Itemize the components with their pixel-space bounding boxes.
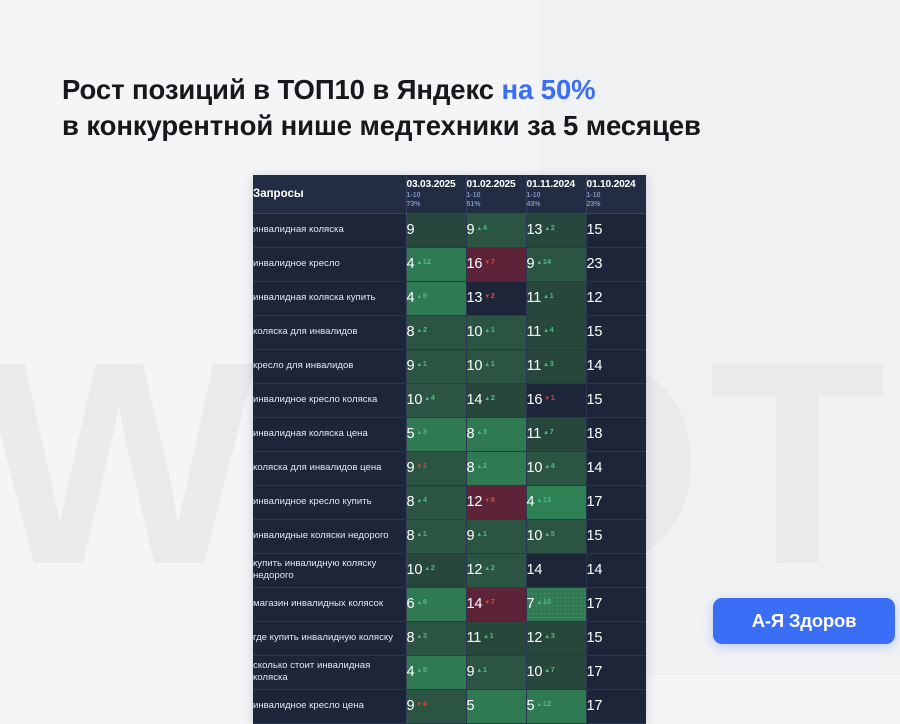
rank-value: 12 — [587, 290, 603, 306]
percent-label: 23% — [587, 201, 647, 209]
triangle-up-icon: ▲ — [544, 634, 550, 640]
delta-value: 1 — [423, 461, 427, 470]
triangle-up-icon: ▲ — [416, 294, 422, 300]
delta-value: 5 — [551, 529, 555, 538]
triangle-up-icon: ▲ — [416, 362, 422, 368]
rank-value: 9 — [527, 256, 535, 272]
rank-value: 23 — [587, 256, 603, 272]
delta-value: 3 — [423, 631, 427, 640]
rank-value: 5 — [527, 698, 535, 714]
rank-value: 17 — [587, 494, 603, 510]
rank-cell: 11▲3 — [526, 349, 586, 383]
delta-down-icon: ▼2 — [484, 291, 495, 300]
delta-value: 4 — [423, 699, 427, 708]
title-line2: в конкурентной нише медтехники за 5 меся… — [62, 110, 701, 141]
delta-value: 10 — [543, 597, 551, 606]
rank-value: 12 — [467, 562, 483, 578]
query-cell: инвалидное кресло — [253, 247, 406, 281]
rank-cell: 11▲1 — [526, 281, 586, 315]
triangle-up-icon: ▲ — [544, 668, 550, 674]
rank-cell: 23 — [586, 247, 646, 281]
delta-up-icon: ▲4 — [416, 495, 427, 504]
triangle-up-icon: ▲ — [416, 260, 422, 266]
rank-value: 10 — [407, 562, 423, 578]
delta-value: 2 — [491, 563, 495, 572]
triangle-up-icon: ▲ — [536, 498, 542, 504]
rank-value: 15 — [587, 630, 603, 646]
rank-cell: 15 — [586, 213, 646, 247]
delta-value: 7 — [491, 257, 495, 266]
triangle-down-icon: ▼ — [416, 702, 422, 708]
rank-value: 14 — [467, 392, 483, 408]
rank-value: 4 — [407, 256, 415, 272]
rank-value: 10 — [527, 528, 543, 544]
rankings-table-card: Запросы 03.03.2025 1-10 73% 01.02.2025 1… — [253, 175, 646, 724]
delta-up-icon: ▲3 — [476, 427, 487, 436]
delta-up-icon: ▲9 — [416, 291, 427, 300]
triangle-up-icon: ▲ — [543, 362, 549, 368]
rank-cell: 17 — [586, 655, 646, 689]
rank-cell: 8▲3 — [406, 621, 466, 655]
triangle-up-icon: ▲ — [476, 430, 482, 436]
query-cell: инвалидное кресло цена — [253, 689, 406, 723]
delta-value: 1 — [423, 359, 427, 368]
triangle-up-icon: ▲ — [424, 396, 430, 402]
delta-up-icon: ▲4 — [543, 325, 554, 334]
rank-value: 10 — [407, 392, 423, 408]
rank-value: 9 — [467, 528, 475, 544]
triangle-down-icon: ▼ — [484, 600, 490, 606]
table-row: инвалидное кресло цена9▼455▲1217 — [253, 689, 646, 723]
query-cell: магазин инвалидных колясок — [253, 587, 406, 621]
table-row: где купить инвалидную коляску8▲311▲112▲3… — [253, 621, 646, 655]
range-label: 1-10 — [407, 192, 466, 200]
rank-cell: 15 — [586, 383, 646, 417]
rank-cell: 13▼2 — [466, 281, 526, 315]
rank-cell: 15 — [586, 519, 646, 553]
delta-value: 2 — [491, 291, 495, 300]
rank-cell: 9 — [406, 213, 466, 247]
delta-value: 1 — [483, 529, 487, 538]
rank-cell: 14▼7 — [466, 587, 526, 621]
delta-down-icon: ▼4 — [416, 699, 427, 708]
rank-value: 11 — [527, 324, 542, 340]
delta-up-icon: ▲3 — [543, 359, 554, 368]
rank-value: 11 — [527, 290, 542, 306]
rank-value: 9 — [407, 698, 415, 714]
triangle-up-icon: ▲ — [416, 600, 422, 606]
delta-value: 2 — [551, 223, 555, 232]
rank-cell: 17 — [586, 587, 646, 621]
triangle-down-icon: ▼ — [484, 260, 490, 266]
query-cell: инвалидная коляска цена — [253, 417, 406, 451]
triangle-up-icon: ▲ — [416, 668, 422, 674]
delta-up-icon: ▲1 — [484, 359, 495, 368]
column-header-queries: Запросы — [253, 175, 406, 213]
triangle-up-icon: ▲ — [536, 702, 542, 708]
date-label: 03.03.2025 — [407, 179, 466, 192]
delta-up-icon: ▲1 — [484, 325, 495, 334]
delta-value: 4 — [551, 461, 555, 470]
query-cell: коляска для инвалидов — [253, 315, 406, 349]
delta-up-icon: ▲3 — [416, 427, 427, 436]
rank-cell: 15 — [586, 315, 646, 349]
delta-up-icon: ▲1 — [543, 291, 554, 300]
rank-value: 11 — [527, 358, 542, 374]
query-cell: где купить инвалидную коляску — [253, 621, 406, 655]
rank-cell: 5▲3 — [406, 417, 466, 451]
triangle-up-icon: ▲ — [536, 260, 542, 266]
query-cell: инвалидная коляска купить — [253, 281, 406, 315]
triangle-up-icon: ▲ — [476, 668, 482, 674]
date-label: 01.10.2024 — [587, 179, 647, 192]
delta-down-icon: ▼1 — [544, 393, 555, 402]
rank-value: 15 — [587, 324, 603, 340]
triangle-up-icon: ▲ — [484, 396, 490, 402]
rank-cell: 12▲3 — [526, 621, 586, 655]
rank-value: 12 — [467, 494, 483, 510]
rank-cell: 7▲10 — [526, 587, 586, 621]
delta-up-icon: ▲14 — [536, 257, 551, 266]
column-header-date-0: 03.03.2025 1-10 73% — [406, 175, 466, 213]
delta-value: 2 — [423, 325, 427, 334]
rank-value: 9 — [407, 358, 415, 374]
rank-cell: 11▲7 — [526, 417, 586, 451]
rank-value: 16 — [467, 256, 483, 272]
delta-up-icon: ▲1 — [476, 665, 487, 674]
rank-value: 9 — [407, 222, 415, 238]
rank-value: 9 — [407, 460, 415, 476]
rank-value: 17 — [587, 698, 603, 714]
delta-value: 2 — [491, 393, 495, 402]
rank-value: 8 — [407, 528, 415, 544]
rank-cell: 16▼1 — [526, 383, 586, 417]
table-row: инвалидная коляска цена5▲38▲311▲718 — [253, 417, 646, 451]
rank-cell: 5 — [466, 689, 526, 723]
rank-value: 10 — [527, 460, 543, 476]
delta-value: 14 — [543, 257, 551, 266]
rank-cell: 8▲3 — [466, 417, 526, 451]
triangle-up-icon: ▲ — [544, 226, 550, 232]
query-cell: инвалидное кресло коляска — [253, 383, 406, 417]
delta-up-icon: ▲8 — [416, 597, 427, 606]
rank-value: 10 — [467, 324, 483, 340]
triangle-up-icon: ▲ — [484, 362, 490, 368]
rank-cell: 10▲7 — [526, 655, 586, 689]
rank-cell: 10▲2 — [406, 553, 466, 587]
rank-cell: 9▲1 — [466, 655, 526, 689]
rank-cell: 12▲2 — [466, 553, 526, 587]
rank-value: 4 — [407, 290, 415, 306]
column-header-date-2: 01.11.2024 1-10 43% — [526, 175, 586, 213]
delta-value: 5 — [423, 665, 427, 674]
rank-cell: 9▼4 — [406, 689, 466, 723]
rank-value: 14 — [587, 358, 603, 374]
delta-up-icon: ▲3 — [416, 631, 427, 640]
delta-value: 7 — [491, 597, 495, 606]
rank-value: 10 — [527, 664, 543, 680]
delta-value: 8 — [423, 597, 427, 606]
delta-up-icon: ▲7 — [543, 427, 554, 436]
delta-up-icon: ▲1 — [416, 529, 427, 538]
rank-cell: 14 — [526, 553, 586, 587]
query-cell: инвалидные коляски недорого — [253, 519, 406, 553]
range-label: 1-10 — [587, 192, 647, 200]
rank-value: 8 — [467, 460, 475, 476]
rank-cell: 8▲4 — [406, 485, 466, 519]
rank-cell: 14▲2 — [466, 383, 526, 417]
rank-cell: 10▲5 — [526, 519, 586, 553]
rank-value: 14 — [587, 562, 603, 578]
triangle-down-icon: ▼ — [484, 294, 490, 300]
delta-value: 1 — [490, 631, 494, 640]
rank-value: 15 — [587, 528, 603, 544]
rank-value: 16 — [527, 392, 543, 408]
rank-value: 5 — [467, 698, 475, 714]
delta-value: 3 — [423, 427, 427, 436]
triangle-up-icon: ▲ — [416, 328, 422, 334]
rank-value: 7 — [527, 596, 535, 612]
rank-cell: 4▲9 — [406, 281, 466, 315]
rank-cell: 9▲4 — [466, 213, 526, 247]
delta-value: 1 — [550, 291, 554, 300]
rank-cell: 18 — [586, 417, 646, 451]
delta-value: 8 — [491, 495, 495, 504]
rank-cell: 9▲1 — [466, 519, 526, 553]
triangle-up-icon: ▲ — [484, 566, 490, 572]
table-row: кресло для инвалидов9▲110▲111▲314 — [253, 349, 646, 383]
date-label: 01.02.2025 — [467, 179, 526, 192]
delta-down-icon: ▼1 — [416, 461, 427, 470]
rank-cell: 4▲13 — [526, 485, 586, 519]
rank-cell: 6▲8 — [406, 587, 466, 621]
delta-up-icon: ▲2 — [544, 223, 555, 232]
delta-value: 1 — [491, 359, 495, 368]
date-label: 01.11.2024 — [527, 179, 586, 192]
rank-cell: 13▲2 — [526, 213, 586, 247]
percent-label: 73% — [407, 201, 466, 209]
delta-up-icon: ▲4 — [424, 393, 435, 402]
rank-cell: 8▲2 — [466, 451, 526, 485]
rank-cell: 10▲1 — [466, 349, 526, 383]
delta-up-icon: ▲2 — [424, 563, 435, 572]
table-row: коляска для инвалидов8▲210▲111▲415 — [253, 315, 646, 349]
rank-value: 18 — [587, 426, 603, 442]
triangle-up-icon: ▲ — [476, 226, 482, 232]
range-label: 1-10 — [527, 192, 586, 200]
triangle-up-icon: ▲ — [476, 532, 482, 538]
delta-up-icon: ▲7 — [544, 665, 555, 674]
triangle-up-icon: ▲ — [416, 634, 422, 640]
table-row: инвалидное кресло коляска10▲414▲216▼115 — [253, 383, 646, 417]
percent-label: 43% — [527, 201, 586, 209]
triangle-up-icon: ▲ — [416, 532, 422, 538]
rank-cell: 11▲4 — [526, 315, 586, 349]
delta-up-icon: ▲1 — [416, 359, 427, 368]
table-row: инвалидные коляски недорого8▲19▲110▲515 — [253, 519, 646, 553]
delta-value: 2 — [431, 563, 435, 572]
rank-value: 14 — [587, 460, 603, 476]
query-cell: коляска для инвалидов цена — [253, 451, 406, 485]
rank-cell: 16▼7 — [466, 247, 526, 281]
delta-value: 2 — [483, 461, 487, 470]
triangle-down-icon: ▼ — [484, 498, 490, 504]
delta-value: 1 — [551, 393, 555, 402]
rank-cell: 12▼8 — [466, 485, 526, 519]
delta-value: 3 — [483, 427, 487, 436]
percent-label: 51% — [467, 201, 526, 209]
rank-value: 12 — [527, 630, 543, 646]
rank-cell: 9▼1 — [406, 451, 466, 485]
title-accent: на 50% — [502, 74, 596, 105]
rank-value: 11 — [467, 630, 482, 646]
delta-up-icon: ▲12 — [416, 257, 431, 266]
rank-value: 6 — [407, 596, 415, 612]
triangle-up-icon: ▲ — [543, 328, 549, 334]
query-cell: инвалидное кресло купить — [253, 485, 406, 519]
triangle-up-icon: ▲ — [483, 634, 489, 640]
column-header-date-1: 01.02.2025 1-10 51% — [466, 175, 526, 213]
rank-value: 5 — [407, 426, 415, 442]
rank-cell: 17 — [586, 689, 646, 723]
rank-cell: 9▲14 — [526, 247, 586, 281]
rank-cell: 10▲1 — [466, 315, 526, 349]
delta-up-icon: ▲2 — [476, 461, 487, 470]
rank-value: 9 — [467, 664, 475, 680]
query-cell: кресло для инвалидов — [253, 349, 406, 383]
rankings-table: Запросы 03.03.2025 1-10 73% 01.02.2025 1… — [253, 175, 646, 724]
rank-cell: 14 — [586, 553, 646, 587]
delta-value: 4 — [431, 393, 435, 402]
delta-value: 4 — [483, 223, 487, 232]
rank-cell: 12 — [586, 281, 646, 315]
rank-cell: 8▲1 — [406, 519, 466, 553]
delta-down-icon: ▼7 — [484, 257, 495, 266]
rank-value: 8 — [407, 630, 415, 646]
triangle-up-icon: ▲ — [543, 430, 549, 436]
triangle-up-icon: ▲ — [544, 464, 550, 470]
table-row: сколько стоит инвалидная коляска4▲59▲110… — [253, 655, 646, 689]
table-row: инвалидная коляска купить4▲913▼211▲112 — [253, 281, 646, 315]
delta-up-icon: ▲10 — [536, 597, 551, 606]
rank-cell: 14 — [586, 451, 646, 485]
delta-up-icon: ▲2 — [484, 563, 495, 572]
delta-up-icon: ▲12 — [536, 699, 551, 708]
rank-cell: 14 — [586, 349, 646, 383]
delta-down-icon: ▼7 — [484, 597, 495, 606]
rank-value: 9 — [467, 222, 475, 238]
rank-value: 4 — [407, 664, 415, 680]
query-cell: инвалидная коляска — [253, 213, 406, 247]
delta-value: 9 — [423, 291, 427, 300]
rank-value: 15 — [587, 392, 603, 408]
table-row: инвалидная коляска99▲413▲215 — [253, 213, 646, 247]
rank-value: 4 — [527, 494, 535, 510]
rank-value: 11 — [527, 426, 542, 442]
delta-value: 12 — [543, 699, 551, 708]
delta-up-icon: ▲4 — [544, 461, 555, 470]
delta-value: 3 — [550, 359, 554, 368]
delta-up-icon: ▲4 — [476, 223, 487, 232]
rank-value: 17 — [587, 596, 603, 612]
delta-value: 7 — [550, 427, 554, 436]
rank-value: 17 — [587, 664, 603, 680]
rank-value: 14 — [467, 596, 483, 612]
delta-up-icon: ▲1 — [483, 631, 494, 640]
range-label: 1-10 — [467, 192, 526, 200]
rank-cell: 8▲2 — [406, 315, 466, 349]
delta-value: 1 — [491, 325, 495, 334]
triangle-up-icon: ▲ — [543, 294, 549, 300]
triangle-down-icon: ▼ — [544, 396, 550, 402]
rank-cell: 11▲1 — [466, 621, 526, 655]
brand-button[interactable]: А-Я Здоров — [713, 598, 895, 644]
brand-button-label: А-Я Здоров — [752, 610, 857, 632]
triangle-up-icon: ▲ — [484, 328, 490, 334]
delta-down-icon: ▼8 — [484, 495, 495, 504]
delta-up-icon: ▲5 — [544, 529, 555, 538]
table-row: магазин инвалидных колясок6▲814▼77▲1017 — [253, 587, 646, 621]
delta-up-icon: ▲2 — [416, 325, 427, 334]
triangle-up-icon: ▲ — [416, 430, 422, 436]
delta-value: 13 — [543, 495, 551, 504]
triangle-up-icon: ▲ — [544, 532, 550, 538]
rank-value: 13 — [467, 290, 483, 306]
delta-up-icon: ▲13 — [536, 495, 551, 504]
rank-value: 15 — [587, 222, 603, 238]
rank-value: 8 — [467, 426, 475, 442]
rank-value: 8 — [407, 324, 415, 340]
page-title: Рост позиций в ТОП10 в Яндекс на 50% в к… — [62, 72, 802, 145]
delta-value: 1 — [483, 665, 487, 674]
triangle-up-icon: ▲ — [424, 566, 430, 572]
table-row: инвалидное кресло купить8▲412▼84▲1317 — [253, 485, 646, 519]
delta-up-icon: ▲2 — [484, 393, 495, 402]
delta-value: 4 — [550, 325, 554, 334]
delta-value: 12 — [423, 257, 431, 266]
triangle-up-icon: ▲ — [476, 464, 482, 470]
query-cell: купить инвалидную коляску недорого — [253, 553, 406, 587]
rank-cell: 15 — [586, 621, 646, 655]
triangle-up-icon: ▲ — [536, 600, 542, 606]
delta-value: 3 — [551, 631, 555, 640]
rank-value: 13 — [527, 222, 543, 238]
table-head: Запросы 03.03.2025 1-10 73% 01.02.2025 1… — [253, 175, 646, 213]
delta-value: 1 — [423, 529, 427, 538]
rank-cell: 10▲4 — [526, 451, 586, 485]
triangle-up-icon: ▲ — [416, 498, 422, 504]
query-cell: сколько стоит инвалидная коляска — [253, 655, 406, 689]
rank-cell: 10▲4 — [406, 383, 466, 417]
rank-cell: 4▲12 — [406, 247, 466, 281]
triangle-down-icon: ▼ — [416, 464, 422, 470]
table-body: инвалидная коляска99▲413▲215инвалидное к… — [253, 213, 646, 723]
table-row: инвалидное кресло4▲1216▼79▲1423 — [253, 247, 646, 281]
rank-cell: 17 — [586, 485, 646, 519]
rank-value: 10 — [467, 358, 483, 374]
delta-value: 4 — [423, 495, 427, 504]
delta-up-icon: ▲3 — [544, 631, 555, 640]
table-header-row: Запросы 03.03.2025 1-10 73% 01.02.2025 1… — [253, 175, 646, 213]
rank-value: 14 — [527, 562, 543, 578]
delta-up-icon: ▲5 — [416, 665, 427, 674]
delta-value: 7 — [551, 665, 555, 674]
title-line1-pre: Рост позиций в ТОП10 в Яндекс — [62, 74, 502, 105]
column-header-date-3: 01.10.2024 1-10 23% — [586, 175, 646, 213]
rank-cell: 9▲1 — [406, 349, 466, 383]
rank-cell: 4▲5 — [406, 655, 466, 689]
table-row: коляска для инвалидов цена9▼18▲210▲414 — [253, 451, 646, 485]
